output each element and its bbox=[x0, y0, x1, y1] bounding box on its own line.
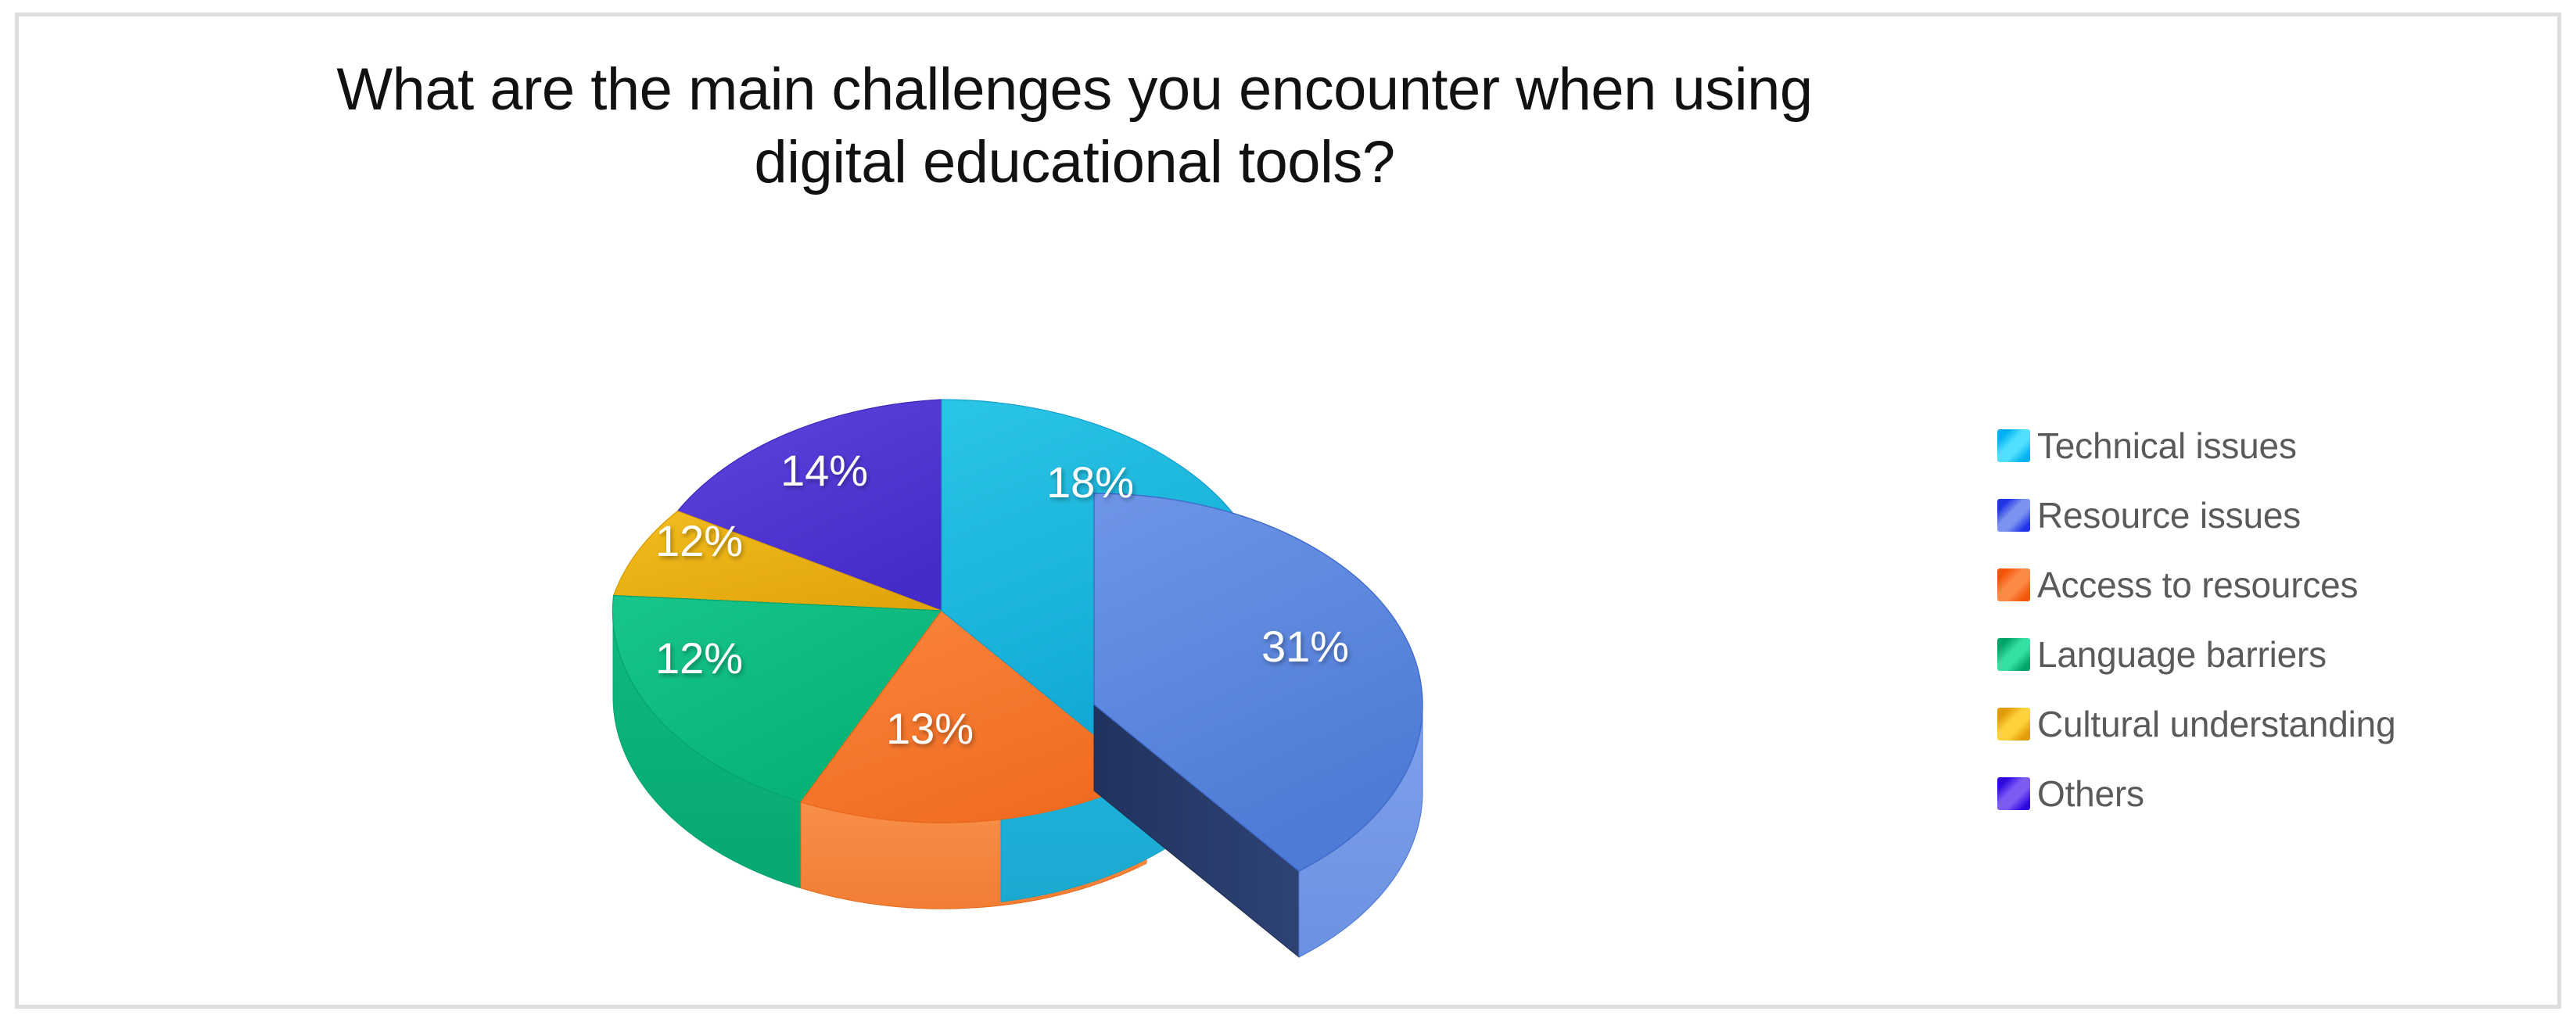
slide-frame: What are the main challenges you encount… bbox=[15, 13, 2561, 1009]
slice-label-language: 12% bbox=[655, 633, 743, 683]
slide-canvas: What are the main challenges you encount… bbox=[0, 0, 2576, 1022]
legend-swatch-access-to-resources bbox=[1997, 568, 2030, 601]
legend-swatch-others bbox=[1997, 777, 2030, 810]
legend-label-resource-issues: Resource issues bbox=[2037, 494, 2301, 536]
legend-label-cultural-understanding: Cultural understanding bbox=[2037, 703, 2395, 745]
slice-label-technical: 18% bbox=[1046, 457, 1134, 507]
legend-swatch-language-barriers bbox=[1997, 638, 2030, 671]
legend-label-others: Others bbox=[2037, 773, 2144, 815]
legend-item-others[interactable]: Others bbox=[1997, 758, 2545, 828]
slice-label-cultural: 12% bbox=[655, 516, 743, 565]
legend-item-cultural-understanding[interactable]: Cultural understanding bbox=[1997, 689, 2545, 758]
slice-resource-exploded bbox=[1094, 493, 1423, 957]
chart-legend: Technical issues Resource issues Access … bbox=[1997, 411, 2545, 828]
chart-title: What are the main challenges you encount… bbox=[214, 54, 1935, 199]
legend-item-access-to-resources[interactable]: Access to resources bbox=[1997, 550, 2545, 619]
legend-swatch-resource-issues bbox=[1997, 499, 2030, 532]
slice-label-others: 14% bbox=[780, 446, 868, 495]
legend-item-technical-issues[interactable]: Technical issues bbox=[1997, 411, 2545, 480]
pie-chart: 14% 12% 12% 13% 18% 31% bbox=[472, 329, 1692, 986]
legend-item-resource-issues[interactable]: Resource issues bbox=[1997, 480, 2545, 550]
slice-label-resource: 31% bbox=[1261, 622, 1349, 671]
legend-swatch-technical-issues bbox=[1997, 429, 2030, 462]
legend-label-access-to-resources: Access to resources bbox=[2037, 564, 2358, 606]
legend-swatch-cultural-understanding bbox=[1997, 708, 2030, 741]
pie-chart-svg: 14% 12% 12% 13% 18% 31% bbox=[472, 329, 1692, 986]
legend-label-technical-issues: Technical issues bbox=[2037, 425, 2297, 467]
legend-item-language-barriers[interactable]: Language barriers bbox=[1997, 619, 2545, 689]
legend-label-language-barriers: Language barriers bbox=[2037, 633, 2327, 676]
slice-label-access: 13% bbox=[886, 704, 974, 753]
